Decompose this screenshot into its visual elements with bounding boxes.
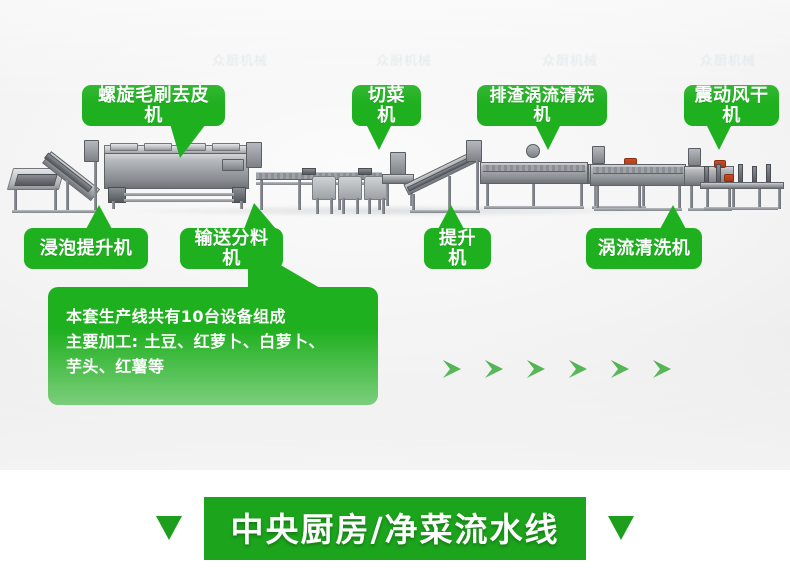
arrow-right-icon-0 [443,360,461,378]
callout-soak-elevator: 浸泡提升机 [24,228,148,269]
machine-vegetable-cutter [380,152,420,208]
machine-slag-vortex-washer [480,148,658,214]
callout-label-conveyor-distributor: 输送分料机 [190,229,273,269]
callout-vortex-washer: 涡流清洗机 [586,228,702,269]
arrow-right-icon-3 [569,360,587,378]
callout-label-vibration-air-dryer: 震动风干机 [694,86,769,126]
callout-label-elevator: 提升机 [434,229,481,269]
callout-slag-vortex-washer: 排渣涡流清洗机 [477,85,607,126]
machine-conveyor-distributor [246,152,392,214]
flow-arrow-strip [443,360,695,378]
arrow-right-icon-2 [527,360,545,378]
watermark-0: 众厨机械 [212,50,268,69]
callout-elevator: 提升机 [424,228,491,269]
machine-vortex-washer [590,150,740,214]
callout-tail-conveyor-distributor [244,203,276,229]
watermark-2: 众厨机械 [542,50,598,69]
watermark-1: 众厨机械 [376,50,432,69]
callout-spiral-brush-peeler: 螺旋毛刷去皮机 [82,85,225,126]
bottom-banner-row: 中央厨房/净菜流水线 [0,495,790,561]
arrow-right-icon-1 [485,360,503,378]
arrow-right-icon-5 [653,360,671,378]
callout-label-spiral-brush-peeler: 螺旋毛刷去皮机 [92,86,215,126]
callout-tail-vortex-washer [660,205,686,229]
callout-label-soak-elevator: 浸泡提升机 [40,239,133,259]
triangle-down-icon-left [156,516,182,540]
callout-tail-spiral-brush-peeler [170,124,206,158]
callout-tail-vibration-air-dryer [706,124,732,150]
watermark-3: 众厨机械 [700,50,756,69]
bottom-banner-title: 中央厨房/净菜流水线 [204,497,585,560]
machine-spiral-brush-peeler [104,141,249,209]
machine-soak-elevator [8,140,113,210]
callout-label-vegetable-cutter: 切菜机 [362,86,411,126]
machine-elevator [404,140,488,212]
callout-tail-elevator [438,205,464,229]
arrow-right-icon-4 [611,360,629,378]
production-line-summary-box: 本套生产线共有10台设备组成 主要加工: 土豆、红萝卜、白萝卜、 芋头、红薯等 [48,287,378,405]
summary-line-2: 主要加工: 土豆、红萝卜、白萝卜、 [66,330,360,355]
summary-line-3: 芋头、红薯等 [66,355,360,380]
product-infographic: 众厨机械众厨机械众厨机械众厨机械 螺旋毛刷去皮机切菜机排渣涡流清洗机震动风干机浸… [0,0,790,583]
callout-conveyor-distributor: 输送分料机 [180,228,283,269]
callout-tail-vegetable-cutter [366,124,392,150]
summary-line-1: 本套生产线共有10台设备组成 [66,305,360,330]
production-line-photo: 众厨机械众厨机械众厨机械众厨机械 螺旋毛刷去皮机切菜机排渣涡流清洗机震动风干机浸… [0,0,790,470]
summary-box-tail [248,246,320,288]
floor-shadow [10,203,780,219]
machine-vibration-air-dryer [700,158,786,212]
callout-tail-soak-elevator [86,205,112,229]
callout-vibration-air-dryer: 震动风干机 [684,85,779,126]
callout-label-vortex-washer: 涡流清洗机 [598,239,691,259]
callout-vegetable-cutter: 切菜机 [352,85,421,126]
triangle-down-icon-right [608,516,634,540]
callout-label-slag-vortex-washer: 排渣涡流清洗机 [487,87,597,124]
callout-tail-slag-vortex-washer [535,124,561,150]
